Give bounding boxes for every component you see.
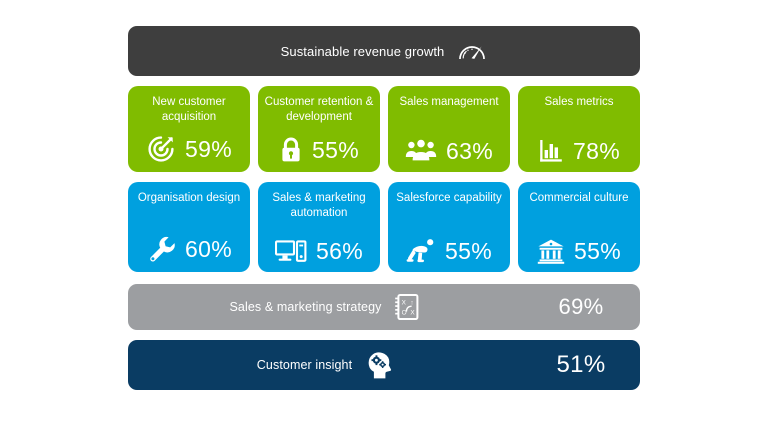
playbook-strategy-icon: X ↑ O X (394, 293, 420, 321)
card-commercial-culture[interactable]: Commercial culture 55% (518, 182, 640, 272)
strategy-bar-percent: 69% (522, 294, 640, 320)
target-icon (146, 134, 176, 164)
card-sales-metrics[interactable]: Sales metrics 78% (518, 86, 640, 172)
insight-bar-content: Customer insight (128, 350, 522, 380)
insight-bar-label: Customer insight (257, 358, 352, 372)
people-group-icon (405, 138, 437, 164)
card-footer: 78% (524, 138, 634, 164)
card-sales-management[interactable]: Sales management 63% (388, 86, 510, 172)
speedometer-icon (457, 40, 487, 62)
card-organisation-design[interactable]: Organisation design 60% (128, 182, 250, 272)
card-footer: 55% (524, 238, 634, 264)
card-percent: 59% (185, 138, 232, 161)
card-percent: 55% (574, 240, 621, 263)
card-footer: 63% (394, 138, 504, 164)
card-footer: 56% (264, 238, 374, 264)
card-footer: 60% (134, 234, 244, 264)
insight-bar-percent: 51% (522, 351, 640, 379)
runner-icon (406, 238, 436, 264)
card-percent: 78% (573, 140, 620, 163)
strategy-bar-content: Sales & marketing strategy X ↑ O (128, 293, 522, 321)
card-footer: 59% (134, 134, 244, 164)
strategy-bar-label: Sales & marketing strategy (230, 300, 382, 314)
wrench-icon (146, 234, 176, 264)
card-title: Sales & marketing automation (264, 191, 374, 220)
card-percent: 55% (312, 139, 359, 162)
card-customer-retention-development[interactable]: Customer retention & development 55% (258, 86, 380, 172)
svg-text:↑: ↑ (411, 299, 414, 306)
card-title: Commercial culture (529, 191, 628, 206)
card-percent: 60% (185, 238, 232, 261)
card-percent: 56% (316, 240, 363, 263)
card-title: Organisation design (138, 191, 240, 206)
card-title: New customer acquisition (134, 95, 244, 124)
card-title: Salesforce capability (396, 191, 501, 206)
bank-building-icon (537, 238, 565, 264)
card-title: Sales management (399, 95, 498, 110)
svg-text:X: X (402, 299, 407, 306)
bar-sales-marketing-strategy[interactable]: Sales & marketing strategy X ↑ O (128, 284, 640, 330)
card-percent: 55% (445, 240, 492, 263)
lock-icon (279, 136, 303, 164)
card-footer: 55% (264, 136, 374, 164)
dashboard-diagram: Sustainable revenue growth New customer … (128, 26, 640, 400)
green-card-row: New customer acquisition 59% Customer re… (128, 86, 640, 172)
header-bar-label: Sustainable revenue growth (281, 44, 445, 59)
header-bar-sustainable-revenue-growth[interactable]: Sustainable revenue growth (128, 26, 640, 76)
svg-text:X: X (411, 309, 416, 316)
card-footer: 55% (394, 238, 504, 264)
card-title: Sales metrics (544, 95, 613, 110)
card-title: Customer retention & development (264, 95, 374, 124)
card-salesforce-capability[interactable]: Salesforce capability 55% (388, 182, 510, 272)
head-gears-icon (365, 350, 393, 380)
card-percent: 63% (446, 140, 493, 163)
bar-customer-insight[interactable]: Customer insight (128, 340, 640, 390)
card-sales-marketing-automation[interactable]: Sales & marketing automation 56% (258, 182, 380, 272)
desktop-computer-icon (275, 238, 307, 264)
card-new-customer-acquisition[interactable]: New customer acquisition 59% (128, 86, 250, 172)
blue-card-row: Organisation design 60% Sales & marketin… (128, 182, 640, 272)
bar-chart-icon (538, 138, 564, 164)
